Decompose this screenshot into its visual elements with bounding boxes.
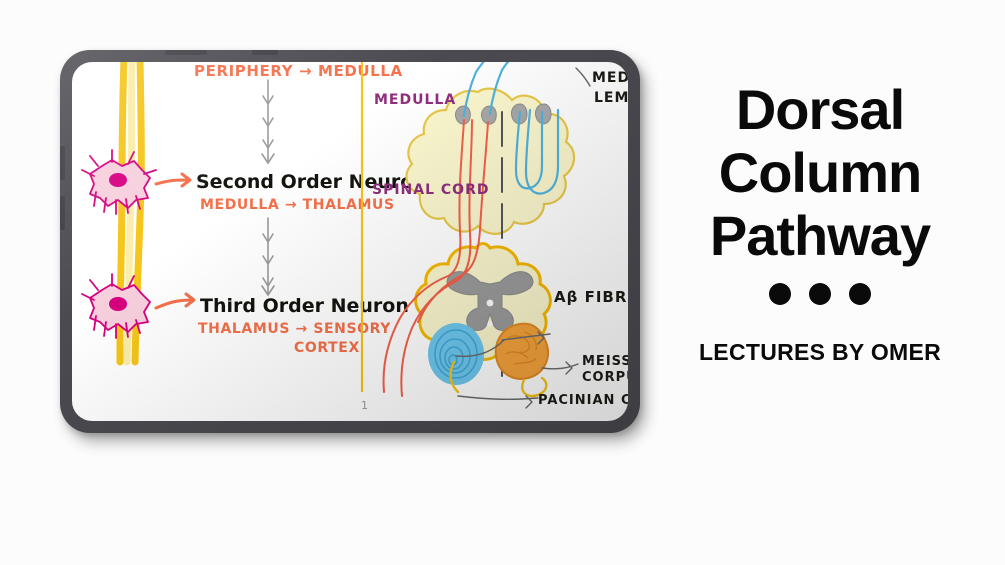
side-button-1[interactable] <box>60 146 65 180</box>
slide-title-block: Dorsal Column Pathway LECTURES BY OMER <box>660 78 980 366</box>
title-line-2: Column <box>660 141 980 204</box>
title-line-1: Dorsal <box>660 78 980 141</box>
flow-chevrons-lower <box>262 218 274 295</box>
label-leminiscus: LEMINISCUS <box>594 90 628 106</box>
dot-separator <box>660 283 980 305</box>
label-pacinian: PACINIAN CORPUSCLE <box>538 393 628 408</box>
label-medial: MEDIAL <box>592 70 628 86</box>
third-order-neuron-heading: Third Order Neuron <box>200 295 409 317</box>
flow-chevrons-upper <box>262 80 274 163</box>
separator-dot-2 <box>809 283 831 305</box>
label-meissner-line1: MEISSNEIR <box>582 354 628 369</box>
volume-button-top-1[interactable] <box>165 50 207 55</box>
label-medulla: MEDULLA <box>374 92 456 108</box>
third-order-neuron-subtitle-line2: CORTEX <box>294 340 360 356</box>
byline: LECTURES BY OMER <box>660 339 980 366</box>
left-top-caption: PERIPHERY → MEDULLA <box>194 62 403 80</box>
second-order-neuron-subtitle: MEDULLA → THALAMUS <box>200 197 395 213</box>
volume-button-top-2[interactable] <box>252 50 278 55</box>
tablet-screen[interactable]: PERIPHERY → MEDULLA Second Order Neuron … <box>72 62 628 421</box>
side-button-2[interactable] <box>60 196 65 230</box>
title-line-3: Pathway <box>660 204 980 267</box>
slide-canvas: PERIPHERY → MEDULLA Second Order Neuron … <box>0 0 1005 565</box>
separator-dot-1 <box>769 283 791 305</box>
page-number: 1 <box>361 399 368 412</box>
separator-dot-3 <box>849 283 871 305</box>
tablet-device: PERIPHERY → MEDULLA Second Order Neuron … <box>60 50 640 433</box>
label-meissner-line2: CORPUSCLE <box>582 370 628 385</box>
label-spinal-cord: SPINAL CORD <box>372 182 489 198</box>
pacinian-corpuscle-structure <box>428 323 484 392</box>
label-ab-fibres: Aβ FIBRES <box>554 288 628 306</box>
